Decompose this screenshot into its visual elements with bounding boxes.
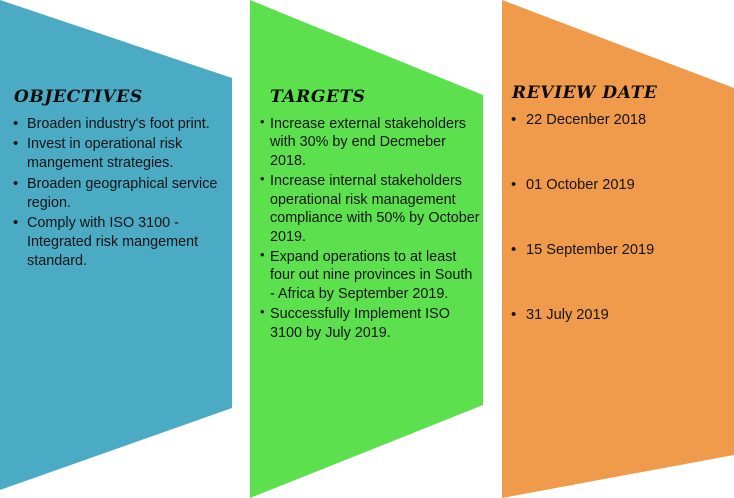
list-item: • Successfully Implement ISO 3100 by Jul… — [258, 305, 480, 342]
list-item: • 15 September 2019 — [508, 241, 730, 260]
list-item-text: 31 July 2019 — [526, 307, 609, 323]
list-item: • Broaden geographical service region. — [10, 175, 232, 212]
bullet-icon: • — [260, 247, 265, 264]
bullet-icon: • — [260, 171, 265, 188]
objectives-bullet-list: • Broaden industry's foot print. • Inves… — [10, 115, 232, 271]
targets-bullet-list: • Increase external stakeholders with 30… — [258, 115, 480, 343]
list-item-text: Comply with ISO 3100 - Integrated risk m… — [27, 215, 198, 268]
list-item: • Expand operations to at least four out… — [258, 248, 480, 304]
targets-panel: TARGETS • Increase external stakeholders… — [258, 88, 480, 343]
list-item: • Increase external stakeholders with 30… — [258, 115, 480, 171]
list-item-text: 01 October 2019 — [526, 177, 635, 193]
bullet-icon: • — [511, 240, 516, 260]
list-item-text: Broaden geographical service region. — [27, 176, 217, 211]
review-date-bullet-list: • 22 Decenber 2018 • 01 October 2019 • 1… — [508, 111, 730, 325]
bullet-icon: • — [511, 175, 516, 195]
review-date-panel-title: REVIEW DATE — [512, 84, 730, 103]
bullet-icon: • — [260, 114, 265, 131]
bullet-icon: • — [511, 110, 516, 130]
list-item: • 31 July 2019 — [508, 306, 730, 325]
list-item-text: Broaden industry's foot print. — [27, 116, 210, 132]
chevron-process-slide: OBJECTIVES • Broaden industry's foot pri… — [0, 0, 734, 498]
list-item-text: 15 September 2019 — [526, 242, 654, 258]
bullet-icon: • — [260, 304, 265, 321]
list-item: • Comply with ISO 3100 - Integrated risk… — [10, 214, 232, 270]
bullet-icon: • — [511, 305, 516, 325]
bullet-icon: • — [13, 114, 18, 134]
list-item-text: Successfully Implement ISO 3100 by July … — [270, 306, 450, 341]
bullet-icon: • — [13, 174, 18, 194]
targets-panel-title: TARGETS — [270, 88, 480, 107]
bullet-icon: • — [13, 134, 18, 154]
objectives-panel-title: OBJECTIVES — [14, 88, 232, 107]
list-item: • 01 October 2019 — [508, 176, 730, 195]
list-item: • 22 Decenber 2018 — [508, 111, 730, 130]
list-item: • Broaden industry's foot print. — [10, 115, 232, 134]
list-item-text: 22 Decenber 2018 — [526, 112, 646, 128]
list-item-text: Increase external stakeholders with 30% … — [270, 116, 466, 169]
objectives-panel: OBJECTIVES • Broaden industry's foot pri… — [10, 88, 232, 272]
list-item: • Increase internal stakeholders operati… — [258, 172, 480, 247]
list-item-text: Expand operations to at least four out n… — [270, 249, 472, 302]
review-date-panel: REVIEW DATE • 22 Decenber 2018 • 01 Octo… — [508, 84, 730, 325]
list-item-text: Invest in operational risk mangement str… — [27, 136, 182, 171]
list-item: • Invest in operational risk mangement s… — [10, 135, 232, 172]
bullet-icon: • — [13, 213, 18, 233]
list-item-text: Increase internal stakeholders operation… — [270, 173, 480, 245]
